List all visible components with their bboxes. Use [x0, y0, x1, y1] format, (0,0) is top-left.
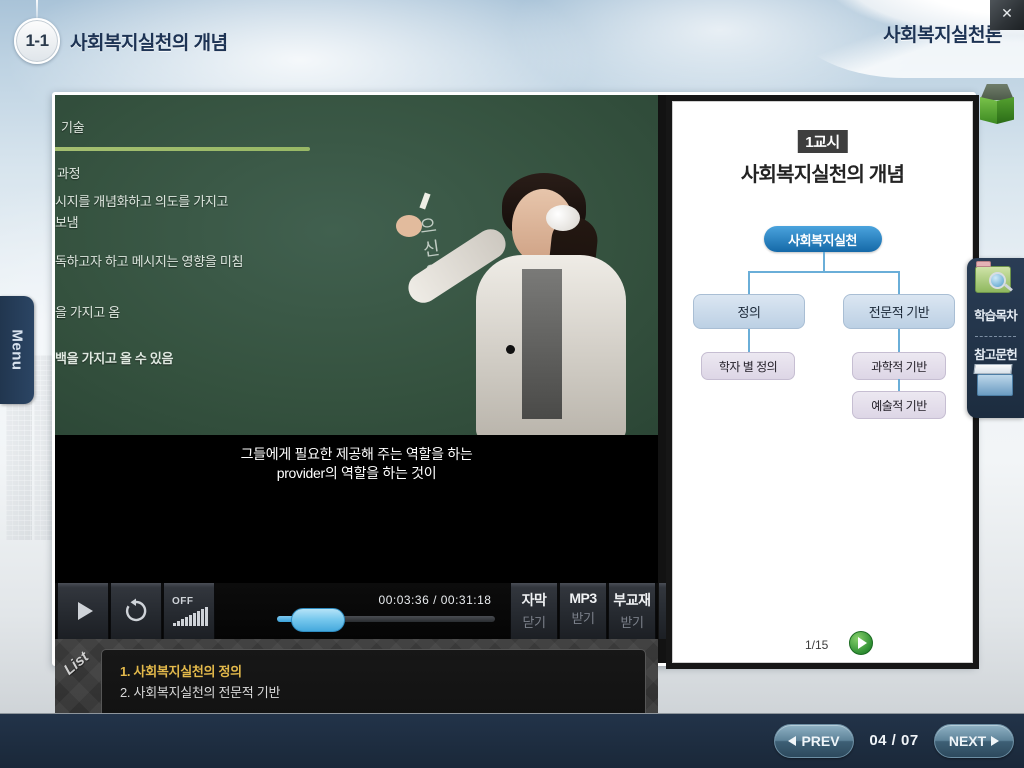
replay-icon — [123, 598, 149, 624]
board-line: 을 가지고 옴 — [55, 302, 120, 321]
player-controls: OFF 00:03:36 / 00:31:18 자막 닫기 MP3 — [55, 583, 658, 639]
volume-off-icon: OFF — [172, 596, 206, 626]
replay-button[interactable] — [110, 583, 162, 639]
diagram-branch-node: 전문적 기반 — [843, 294, 955, 329]
page-title: 사회복지실천의 개념 — [70, 28, 228, 55]
page-counter: 04 / 07 — [862, 732, 926, 749]
blackboard: 기술 과정 시지를 개념화하고 의도를 가지고 보냄 독하고자 하고 메시지는 … — [55, 95, 658, 435]
diagram-leaf-node: 학자 별 정의 — [701, 352, 795, 380]
list-item[interactable]: 2. 사회복지실천의 전문적 기반 — [120, 682, 645, 703]
sidebar-item-toc[interactable]: 학습목차 — [967, 305, 1024, 324]
course-title: 사회복지실천론 — [883, 20, 1002, 47]
sidebar-item-references[interactable]: 참고문헌 — [967, 344, 1024, 363]
diagram-connector — [748, 329, 750, 353]
lesson-list-panel: List 1. 사회복지실천의 정의 2. 사회복지실천의 전문적 기반 — [55, 639, 658, 669]
mp3-button-sublabel: 받기 — [560, 608, 606, 627]
play-button[interactable] — [57, 583, 109, 639]
slide-canvas: 1교시 사회복지실천의 개념 사회복지실천 정의 전문적 기반 학자 별 정의 … — [672, 101, 973, 663]
diagram-connector — [823, 252, 825, 272]
board-line: 기술 — [61, 117, 84, 136]
diagram-leaf-node: 과학적 기반 — [852, 352, 946, 380]
menu-tab-label: Menu — [9, 329, 26, 370]
slide-next-button[interactable] — [849, 631, 873, 655]
chevron-left-icon — [788, 736, 796, 746]
board-underline — [55, 147, 310, 151]
mp3-download-button[interactable]: MP3 받기 — [559, 583, 607, 639]
slide-page-indicator: 1/15 — [805, 638, 828, 652]
slide-session-badge: 1교시 — [797, 130, 847, 153]
diagram-connector — [898, 329, 900, 353]
sidebar-divider — [975, 336, 1016, 337]
subtitle-toggle-button[interactable]: 자막 닫기 — [510, 583, 558, 639]
supplement-button-sublabel: 받기 — [609, 612, 655, 631]
list-item[interactable]: 1. 사회복지실천의 정의 — [120, 661, 645, 682]
time-display: 00:03:36 / 00:31:18 — [360, 593, 510, 607]
play-icon — [78, 602, 93, 620]
badge-stem — [36, 0, 38, 19]
seek-bar[interactable] — [277, 616, 495, 622]
list-tag-label: List — [61, 648, 92, 678]
right-sidebar: 학습목차 참고문헌 — [967, 258, 1024, 418]
subtitle-band: 그들에게 필요한 제공해 주는 역할을 하는 provider의 역할을 하는 … — [55, 435, 658, 583]
next-button[interactable]: NEXT — [934, 724, 1014, 758]
chevron-right-icon — [991, 736, 999, 746]
slide-pane: 1교시 사회복지실천의 개념 사회복지실천 정의 전문적 기반 학자 별 정의 … — [666, 95, 979, 669]
seek-handle[interactable] — [291, 608, 345, 632]
header-bar: 1-1 사회복지실천의 개념 사회복지실천론 ✕ — [0, 0, 1024, 80]
diagram-connector — [748, 271, 750, 295]
play-next-icon — [858, 637, 867, 649]
subtitle-line-1: 그들에게 필요한 제공해 주는 역할을 하는 — [55, 445, 658, 464]
board-line: 보냄 — [55, 212, 78, 231]
subtitle-button-sublabel: 닫기 — [511, 612, 557, 631]
diagram-connector — [748, 271, 900, 273]
slide-title: 사회복지실천의 개념 — [673, 158, 972, 187]
subtitle-line-2: provider의 역할을 하는 것이 — [55, 464, 658, 483]
volume-button[interactable]: OFF — [163, 583, 215, 639]
folder-search-icon — [975, 264, 1017, 298]
next-button-label: NEXT — [949, 733, 986, 749]
prev-button[interactable]: PREV — [774, 724, 854, 758]
diagram-connector — [898, 271, 900, 295]
mp3-button-label: MP3 — [560, 590, 606, 606]
board-line: 과정 — [57, 163, 80, 182]
board-line: 백을 가지고 올 수 있음 — [55, 348, 173, 367]
bottom-navigation-bar: PREV 04 / 07 NEXT — [0, 713, 1024, 768]
supplement-download-button[interactable]: 부교재 받기 — [608, 583, 656, 639]
board-line: 시지를 개념화하고 의도를 가지고 — [55, 191, 228, 210]
card-box-icon — [975, 370, 1017, 404]
subtitle-text: 그들에게 필요한 제공해 주는 역할을 하는 provider의 역할을 하는 … — [55, 445, 658, 483]
chapter-badge: 1-1 — [14, 18, 60, 64]
diagram-root-node: 사회복지실천 — [764, 226, 882, 252]
diagram-branch-node: 정의 — [693, 294, 805, 329]
prev-button-label: PREV — [801, 733, 839, 749]
cube-icon[interactable] — [976, 84, 1018, 126]
subtitle-button-label: 자막 — [511, 590, 557, 610]
menu-tab[interactable]: Menu — [0, 296, 34, 404]
supplement-button-label: 부교재 — [609, 590, 655, 610]
video-area[interactable]: 기술 과정 시지를 개념화하고 의도를 가지고 보냄 독하고자 하고 메시지는 … — [55, 95, 658, 669]
player-window: 기술 과정 시지를 개념화하고 의도를 가지고 보냄 독하고자 하고 메시지는 … — [52, 92, 976, 666]
instructor-figure — [450, 165, 658, 435]
board-line: 독하고자 하고 메시지는 영향을 미침 — [55, 251, 243, 270]
close-icon[interactable]: ✕ — [990, 0, 1024, 30]
diagram-leaf-node: 예술적 기반 — [852, 391, 946, 419]
